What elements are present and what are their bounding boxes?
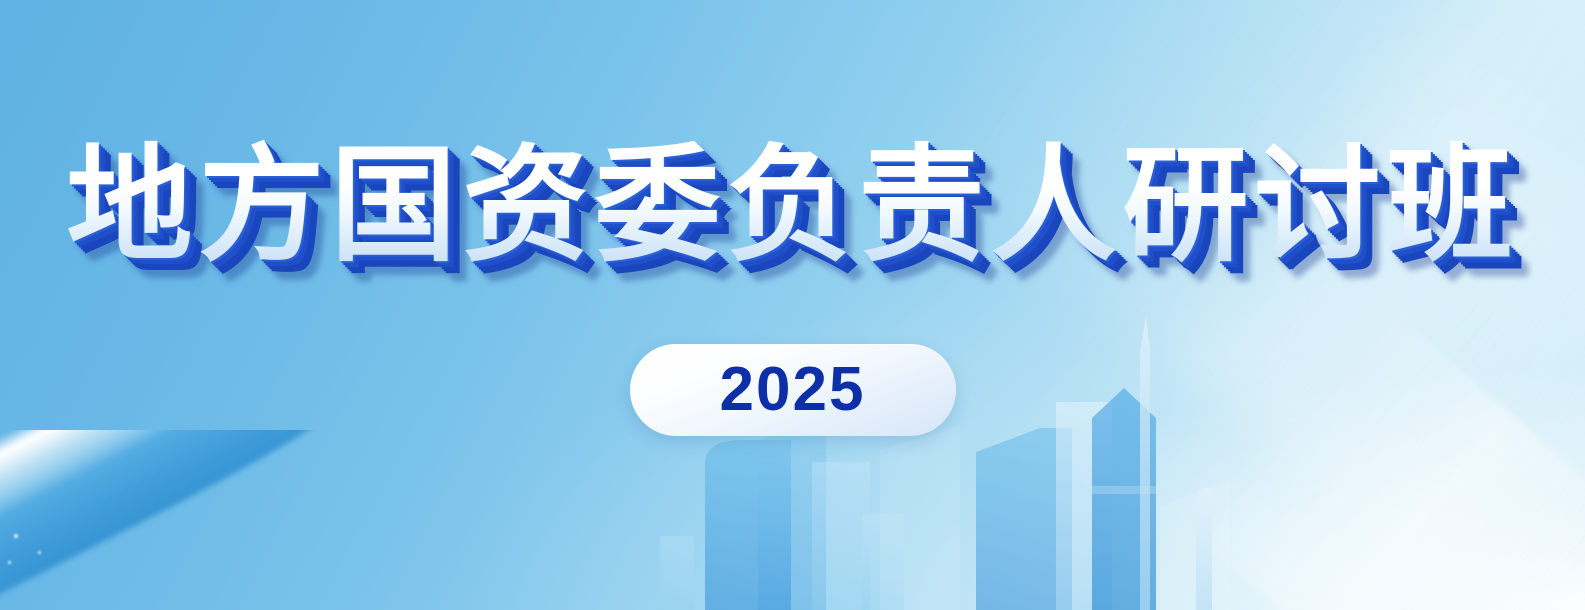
- ribbon-sparkle-icon: [14, 534, 18, 538]
- building-far-left: [660, 536, 694, 610]
- year-badge-row: 2025: [0, 344, 1585, 436]
- top-right-light-streak-decoration: [891, 0, 1585, 610]
- building-ghost-reflection-right: [1160, 480, 1230, 610]
- building-tower-b: [758, 414, 826, 610]
- building-tower-d: [862, 514, 904, 610]
- building-tower-a: [705, 440, 791, 610]
- ribbon-band-white: [0, 430, 364, 603]
- mid-right-sheen-decoration: [1043, 1, 1585, 610]
- building-spire-band: [1092, 486, 1156, 494]
- building-tower-c: [812, 462, 870, 610]
- building-ghost-reflection-left: [880, 426, 960, 610]
- ribbon-group: [0, 430, 430, 610]
- ribbon-sparkle-icon: [38, 551, 41, 554]
- ribbon-band-deep-blue: [0, 430, 414, 610]
- building-tower-thin: [1196, 488, 1212, 610]
- year-badge: 2025: [630, 344, 956, 436]
- ribbon-sparkle-icon: [8, 561, 11, 564]
- building-tower-slab: [976, 428, 1072, 610]
- event-banner: 地方国资委负责人研讨班 2025: [0, 0, 1585, 610]
- lower-right-highlight-line-decoration: [1178, 295, 1585, 610]
- year-badge-label: 2025: [720, 359, 866, 421]
- ribbon-band-pale-blue: [0, 430, 381, 610]
- banner-title: 地方国资委负责人研讨班: [67, 138, 1519, 274]
- title-block: 地方国资委负责人研讨班: [0, 138, 1585, 274]
- bottom-left-ribbon-decoration: [0, 430, 430, 610]
